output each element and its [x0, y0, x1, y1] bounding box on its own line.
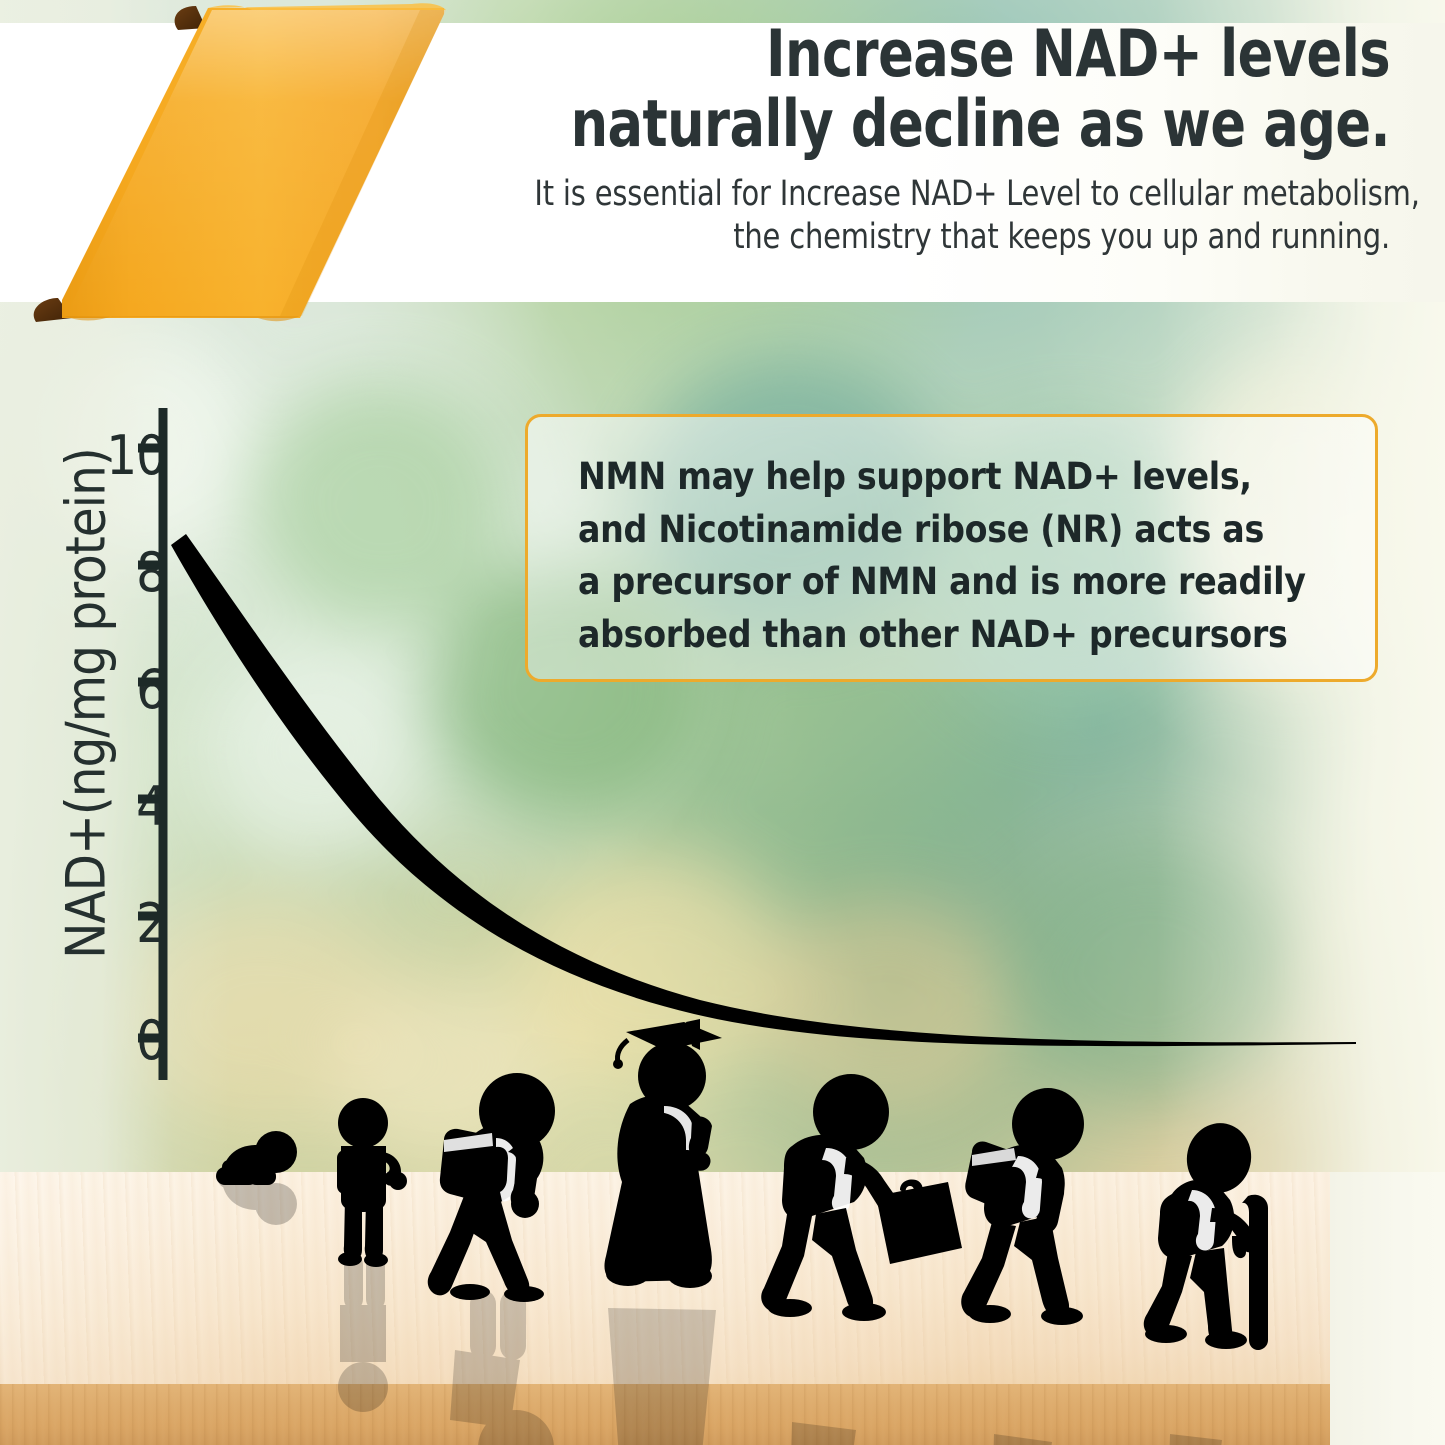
callout-line-2: and Nicotinamide ribose (NR) acts as [578, 504, 1331, 557]
page-title-line-2: naturally decline as we age. [553, 90, 1390, 160]
callout-box: NMN may help support NAD+ levels, and Ni… [525, 414, 1378, 682]
page-title-line-1: Increase NAD+ levels [553, 20, 1390, 90]
callout-line-4: absorbed than other NAD+ precursors [578, 609, 1331, 662]
header-text-block: Increase NAD+ levels naturally decline a… [460, 20, 1390, 258]
wooden-table-surface [0, 1172, 1330, 1384]
page-subtitle-line-2: the chemistry that keeps you up and runn… [534, 216, 1390, 259]
callout-line-3: a precursor of NMN and is more readily [578, 556, 1331, 609]
wooden-table-edge [0, 1384, 1330, 1445]
infographic-canvas: Increase NAD+ levels naturally decline a… [0, 0, 1445, 1445]
callout-line-1: NMN may help support NAD+ levels, [578, 451, 1331, 504]
page-subtitle-line-1: It is essential for Increase NAD+ Level … [534, 173, 1390, 216]
page-subtitle: It is essential for Increase NAD+ Level … [460, 173, 1390, 258]
table-right-background [1330, 1172, 1445, 1445]
